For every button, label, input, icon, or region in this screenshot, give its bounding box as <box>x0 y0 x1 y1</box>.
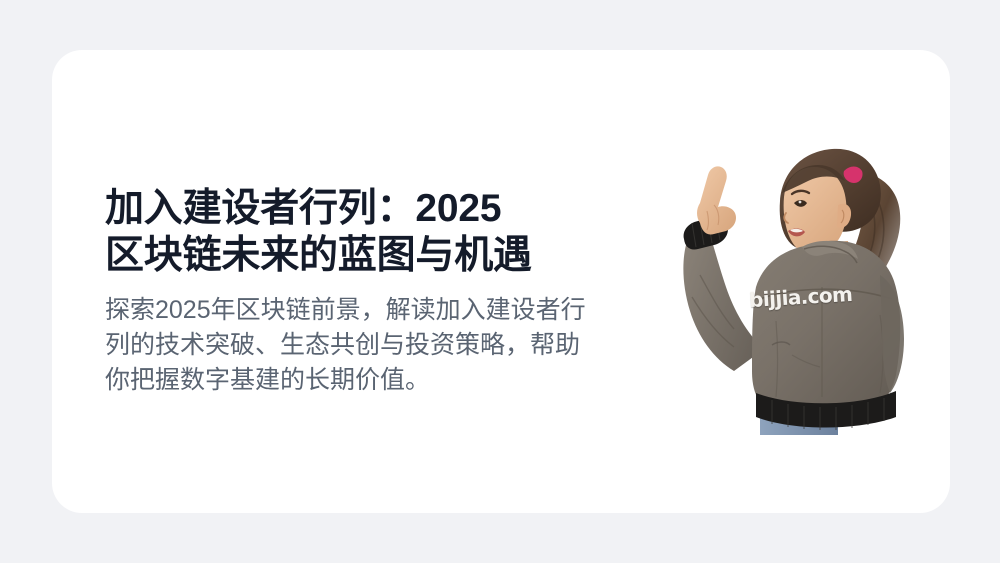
jacket-body <box>752 241 900 407</box>
hero-text-column: 加入建设者行列：2025 区块链未来的蓝图与机遇 探索2025年区块链前景，解读… <box>105 185 605 398</box>
child-pointing-illustration: bijjia.com <box>652 135 942 435</box>
eye-highlight <box>799 201 802 204</box>
hero-subtitle: 探索2025年区块链前景，解读加入建设者行列的技术突破、生态共创与投资策略，帮助… <box>105 293 587 398</box>
banner-root: 加入建设者行列：2025 区块链未来的蓝图与机遇 探索2025年区块链前景，解读… <box>0 0 1000 563</box>
child-figure-svg <box>652 135 942 435</box>
hero-card: 加入建设者行列：2025 区块链未来的蓝图与机遇 探索2025年区块链前景，解读… <box>52 50 950 513</box>
pointing-hand <box>697 166 736 234</box>
page-title: 加入建设者行列：2025 区块链未来的蓝图与机遇 <box>105 185 605 279</box>
